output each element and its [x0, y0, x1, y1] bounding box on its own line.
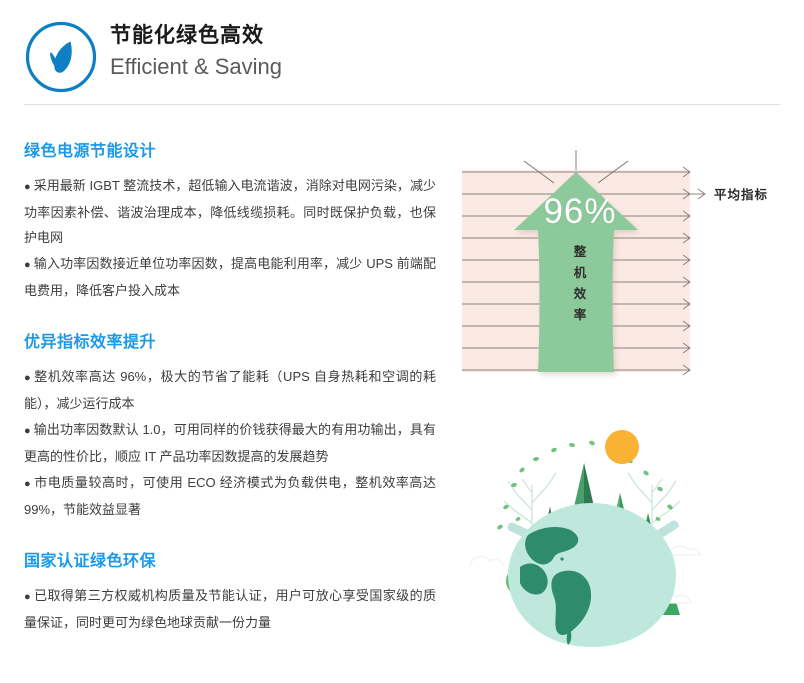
header-title-en: Efficient & Saving [110, 52, 282, 82]
average-metric-label: 平均指标 [714, 184, 768, 203]
green-earth-illustration [462, 415, 722, 665]
bullet-dot-icon: ● [24, 478, 31, 490]
list-item-text: 采用最新 IGBT 整流技术，超低输入电流谐波，消除对电网污染，减少功率因素补偿… [24, 178, 436, 245]
list-item: ●已取得第三方权威机构质量及节能认证，用户可放心享受国家级的质量保证，同时更可为… [24, 583, 436, 635]
section-title: 优异指标效率提升 [24, 331, 436, 355]
section-title: 绿色电源节能设计 [24, 140, 436, 164]
section-green-power-design: 绿色电源节能设计 ●采用最新 IGBT 整流技术，超低输入电流谐波，消除对电网污… [24, 140, 436, 303]
list-item-text: 市电质量较高时，可使用 ECO 经济模式为负载供电，整机效率高达 99%，节能效… [24, 475, 436, 517]
header-divider [24, 104, 780, 105]
list-item: ●整机效率高达 96%，极大的节省了能耗（UPS 自身热耗和空调的耗能），减少运… [24, 364, 436, 416]
page-header: 节能化绿色高效 Efficient & Saving [0, 0, 804, 106]
cloud-bottom-icon [670, 546, 700, 555]
list-item: ●采用最新 IGBT 整流技术，超低输入电流谐波，消除对电网污染，减少功率因素补… [24, 173, 436, 250]
content-column: 绿色电源节能设计 ●采用最新 IGBT 整流技术，超低输入电流谐波，消除对电网污… [24, 140, 436, 661]
list-item-text: 已取得第三方权威机构质量及节能认证，用户可放心享受国家级的质量保证，同时更可为绿… [24, 588, 436, 630]
list-item: ●市电质量较高时，可使用 ECO 经济模式为负载供电，整机效率高达 99%，节能… [24, 470, 436, 522]
page-root: 节能化绿色高效 Efficient & Saving 绿色电源节能设计 ●采用最… [0, 0, 804, 683]
bullet-dot-icon: ● [24, 181, 31, 193]
vlabel-char: 效 [557, 284, 603, 305]
efficiency-value-label: 96% [530, 192, 630, 232]
section-efficiency-improvement: 优异指标效率提升 ●整机效率高达 96%，极大的节省了能耗（UPS 自身热耗和空… [24, 331, 436, 522]
vlabel-char: 率 [557, 305, 603, 326]
vlabel-char: 整 [557, 242, 603, 263]
efficiency-vertical-label: 整 机 效 率 [557, 242, 603, 326]
efficiency-arrow-chart: 96% 整 机 效 率 平均指标 [462, 150, 792, 385]
sun-icon [605, 430, 639, 464]
bullet-dot-icon: ● [24, 372, 31, 384]
leaf-check-circle-icon [24, 20, 98, 94]
bullet-dot-icon: ● [24, 425, 31, 437]
bullet-dot-icon: ● [24, 259, 31, 271]
list-item-text: 输入功率因数接近单位功率因数，提高电能利用率，减少 UPS 前端配电费用，降低客… [24, 256, 436, 298]
list-item-text: 整机效率高达 96%，极大的节省了能耗（UPS 自身热耗和空调的耗能），减少运行… [24, 369, 436, 411]
cloud-left-icon [470, 556, 504, 568]
list-item: ●输出功率因数默认 1.0，可用同样的价钱获得最大的有用功输出，具有更高的性价比… [24, 417, 436, 469]
section-title: 国家认证绿色环保 [24, 550, 436, 574]
list-item: ●输入功率因数接近单位功率因数，提高电能利用率，减少 UPS 前端配电费用，降低… [24, 251, 436, 303]
list-item-text: 输出功率因数默认 1.0，可用同样的价钱获得最大的有用功输出，具有更高的性价比，… [24, 422, 436, 464]
vlabel-char: 机 [557, 263, 603, 284]
bullet-dot-icon: ● [24, 591, 31, 603]
header-text-group: 节能化绿色高效 Efficient & Saving [110, 22, 282, 82]
section-national-certification: 国家认证绿色环保 ●已取得第三方权威机构质量及节能认证，用户可放心享受国家级的质… [24, 550, 436, 635]
header-title-cn: 节能化绿色高效 [110, 22, 282, 50]
